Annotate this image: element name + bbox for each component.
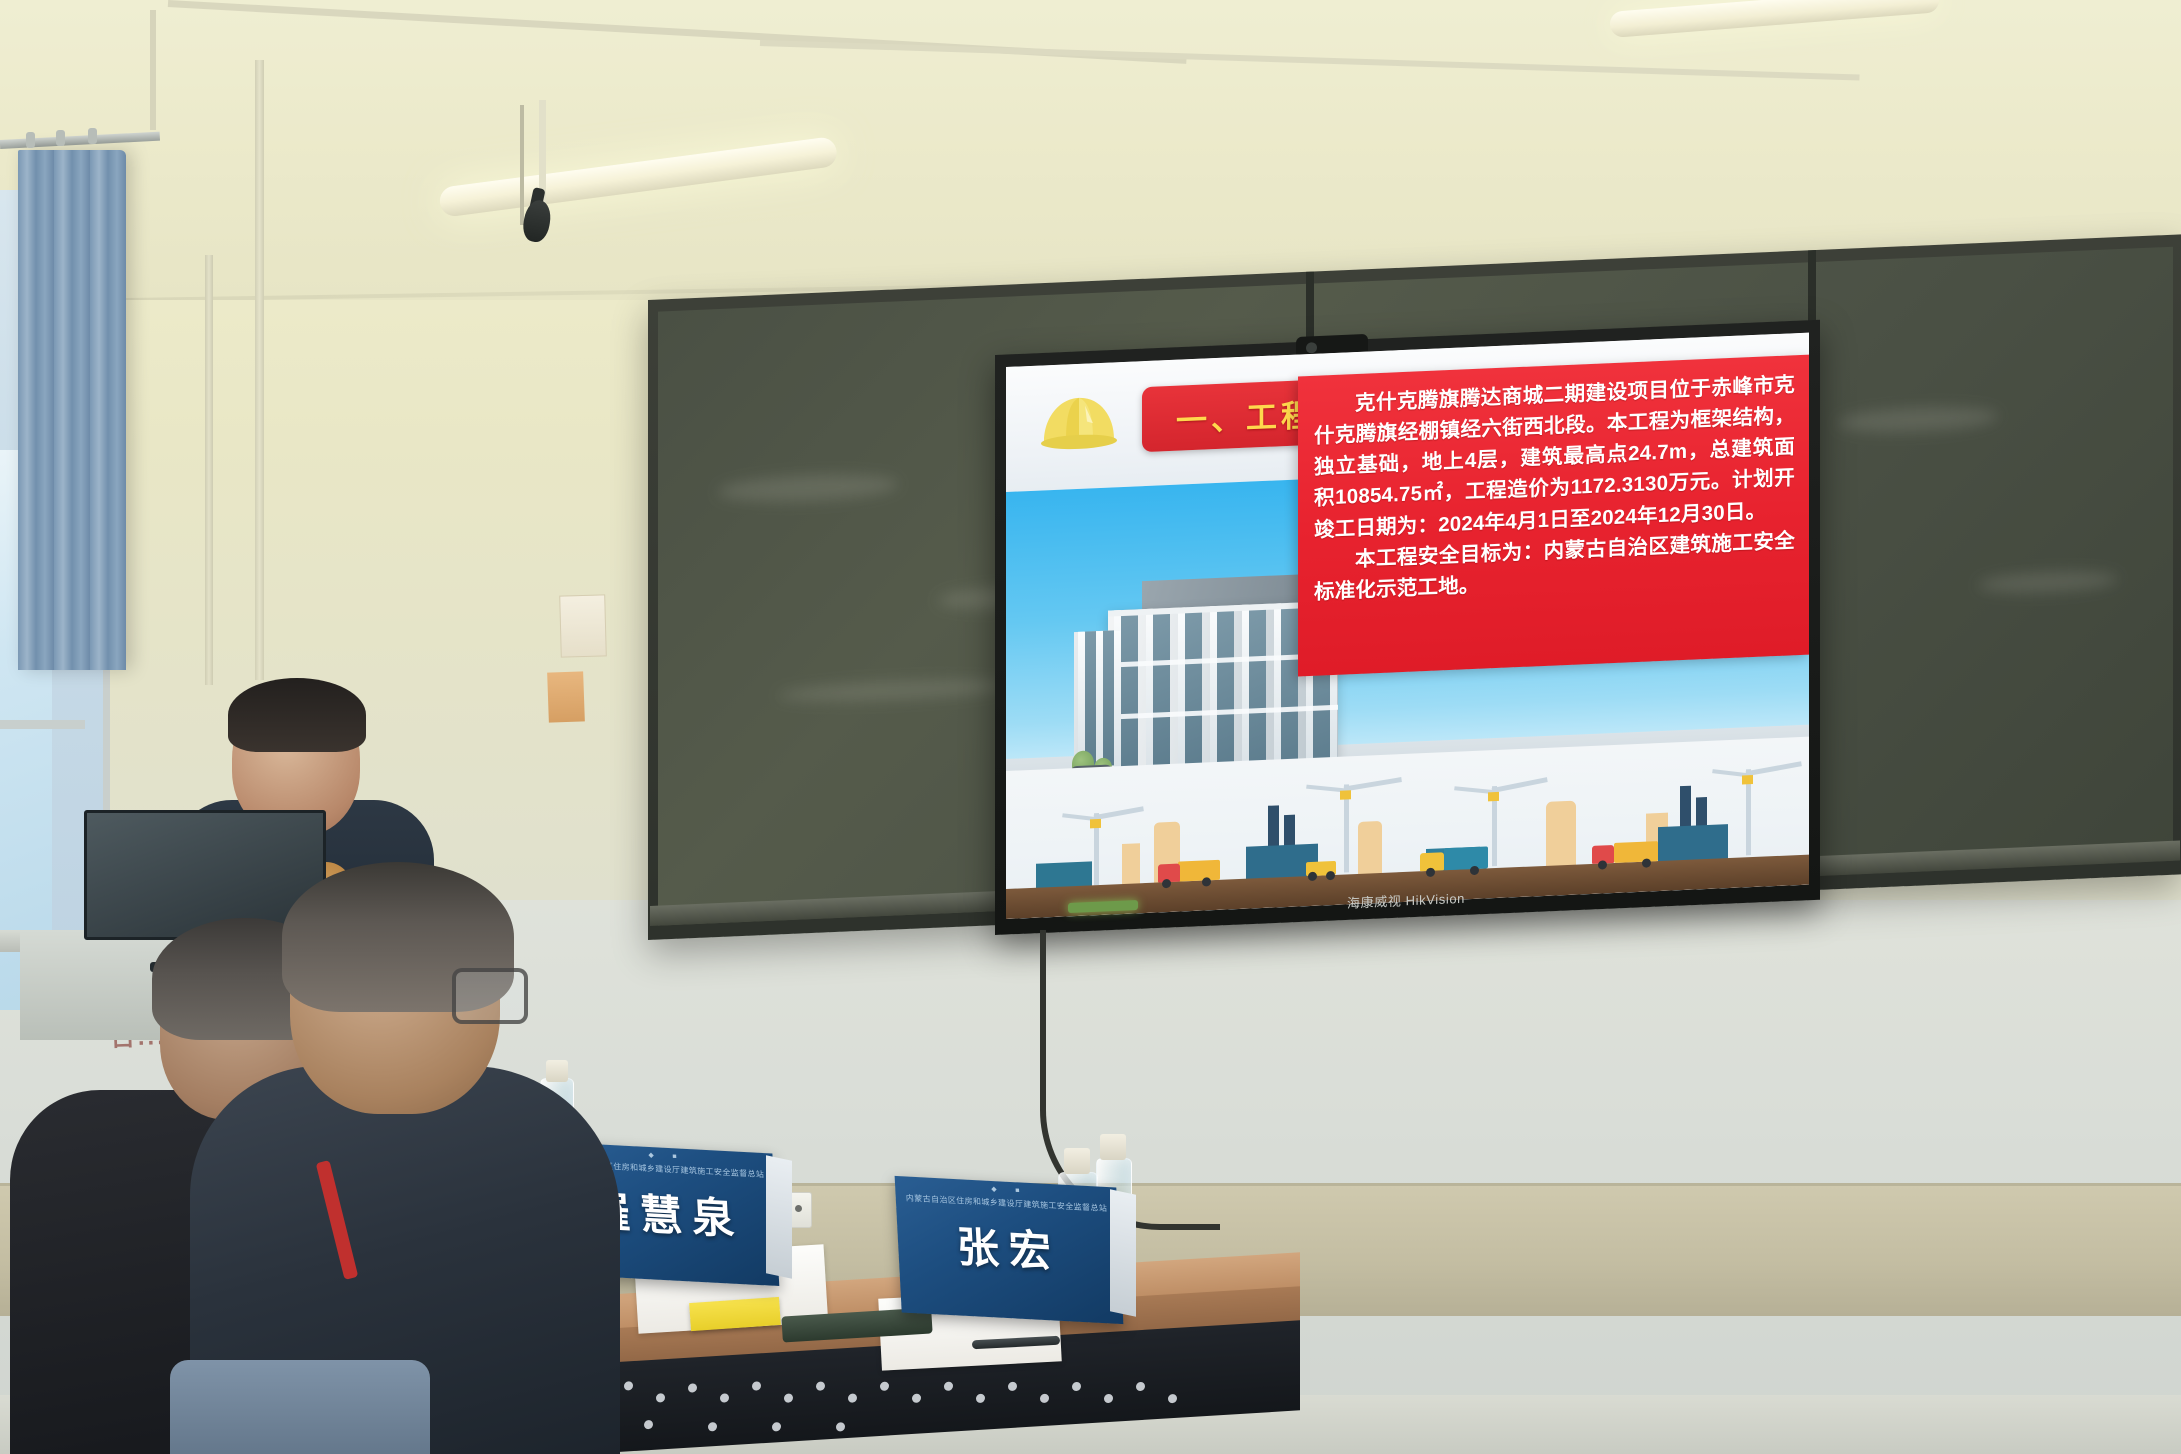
bottle-cap-3 xyxy=(1100,1134,1126,1160)
nameplate-2: ◆ ■ 内蒙古自治区住房和城乡建设厅建筑施工安全监督总站 张宏 xyxy=(895,1176,1124,1324)
slide-paragraph-1: 克什克腾旗腾达商城二期建设项目位于赤峰市克什克腾旗经棚镇经六街西北段。本工程为框… xyxy=(1314,369,1795,545)
nameplate-2-name: 张宏 xyxy=(896,1210,1121,1283)
classroom-chair[interactable] xyxy=(170,1360,430,1454)
nameplate-2-side xyxy=(1110,1189,1136,1317)
wall-notice-paper-2 xyxy=(547,671,585,722)
curtain-hook xyxy=(56,130,65,146)
classroom-scene: 一、工程概况 xyxy=(0,0,2181,1454)
bottle-cap-2 xyxy=(1064,1148,1090,1174)
slide-body-panel: 克什克腾旗腾达商城二期建设项目位于赤峰市克什克腾旗经棚镇经六街西北段。本工程为框… xyxy=(1298,355,1809,677)
wall-pipe-2 xyxy=(205,255,213,685)
hard-hat-icon xyxy=(1036,386,1122,452)
camera-lens-icon xyxy=(1306,342,1317,353)
wall-pipe xyxy=(255,60,264,680)
curtain-hook xyxy=(88,128,97,144)
nameplate-1-logo: ◆ ■ xyxy=(648,1151,678,1161)
microphone-cable xyxy=(520,105,524,225)
presentation-slide[interactable]: 一、工程概况 xyxy=(1006,333,1809,919)
nameplate-2-logo: ◆ ■ xyxy=(991,1185,1021,1195)
ceiling-conduit xyxy=(150,10,156,130)
curtain-hook xyxy=(26,132,35,148)
nameplate-1-side xyxy=(766,1155,792,1279)
presenter-hair xyxy=(228,678,366,752)
eyeglasses-icon xyxy=(452,968,528,1024)
bottle-cap xyxy=(546,1060,568,1082)
wall-notice-paper xyxy=(559,594,607,657)
window-curtain[interactable] xyxy=(18,150,126,670)
window-mullion xyxy=(0,720,85,729)
